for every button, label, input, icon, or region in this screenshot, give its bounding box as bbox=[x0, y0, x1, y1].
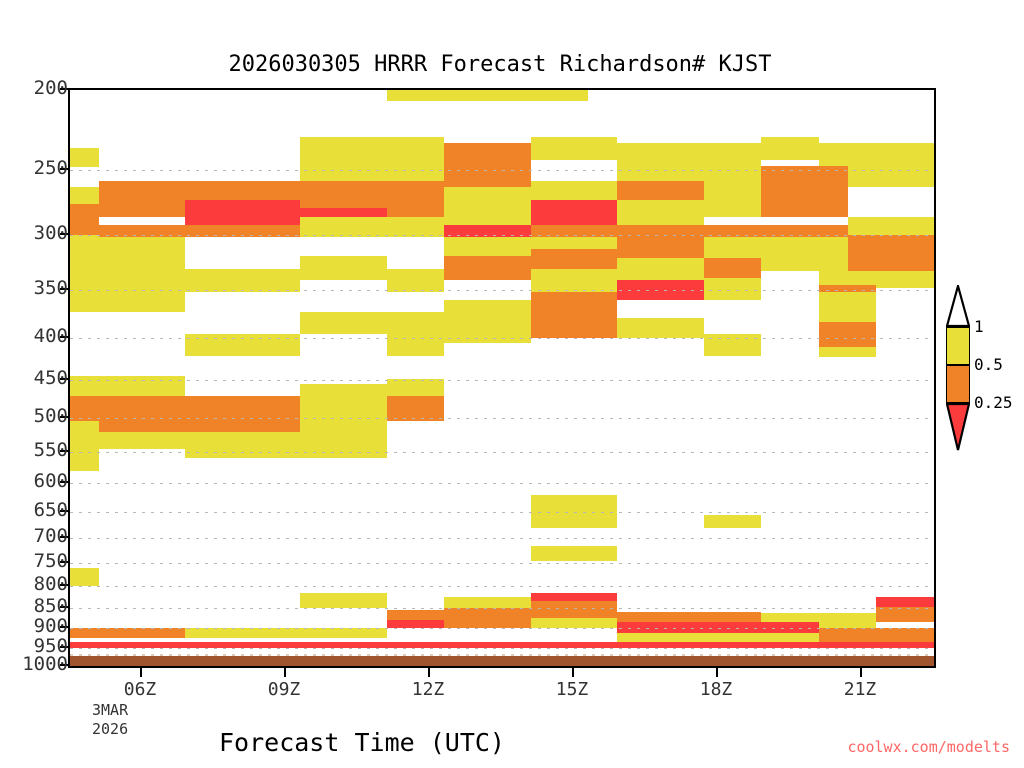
y-tick-label: 400 bbox=[6, 327, 68, 346]
credit-link[interactable]: coolwx.com/modelts bbox=[847, 738, 1010, 756]
y-tick-label: 700 bbox=[6, 527, 68, 546]
y-axis: 2002503003504004505005506006507007508008… bbox=[0, 0, 68, 768]
x-tick-label: 09Z bbox=[268, 679, 301, 700]
y-tick-label: 900 bbox=[6, 617, 68, 636]
y-tick-label: 500 bbox=[6, 407, 68, 426]
y-tick-label: 300 bbox=[6, 224, 68, 243]
x-tick-label: 06Z bbox=[124, 679, 157, 700]
x-tick-label: 18Z bbox=[700, 679, 733, 700]
x-tick-mark bbox=[572, 668, 574, 677]
terrain-band bbox=[70, 90, 934, 666]
colorbar-bottom-arrow bbox=[946, 403, 970, 445]
x-tick-mark bbox=[284, 668, 286, 677]
x-tick-mark bbox=[140, 668, 142, 677]
y-tick-label: 600 bbox=[6, 472, 68, 491]
x-tick-label: 15Z bbox=[556, 679, 589, 700]
y-tick-label: 650 bbox=[6, 501, 68, 520]
x-tick-mark bbox=[428, 668, 430, 677]
y-tick-label: 750 bbox=[6, 552, 68, 571]
y-tick-label: 850 bbox=[6, 597, 68, 616]
terrain-gridline-1000 bbox=[70, 654, 934, 656]
colorbar-band-0.5-to-1 bbox=[946, 327, 970, 365]
x-axis: 3MAR 2026 06Z09Z12Z15Z18Z21Z bbox=[0, 668, 1024, 728]
chart-root: 2026030305 HRRR Forecast Richardson# KJS… bbox=[0, 0, 1024, 768]
y-tick-label: 350 bbox=[6, 279, 68, 298]
x-tick-mark bbox=[860, 668, 862, 677]
colorbar-band-0.25-to-0.5 bbox=[946, 365, 970, 403]
colorbar-top-arrow bbox=[946, 285, 970, 327]
x-tick-label: 12Z bbox=[412, 679, 445, 700]
plot-area bbox=[68, 88, 936, 668]
page-title: 2026030305 HRRR Forecast Richardson# KJS… bbox=[0, 52, 1000, 77]
legend-colorbar: 10.50.25 bbox=[944, 285, 1024, 480]
x-tick-label: 21Z bbox=[844, 679, 877, 700]
y-tick-label: 550 bbox=[6, 441, 68, 460]
x-axis-title-text: Forecast Time (UTC) bbox=[219, 728, 505, 757]
colorbar-label: 0.25 bbox=[974, 395, 1013, 411]
y-tick-label: 200 bbox=[6, 79, 68, 98]
colorbar-label: 0.5 bbox=[974, 357, 1003, 373]
y-tick-label: 250 bbox=[6, 159, 68, 178]
x-tick-mark bbox=[716, 668, 718, 677]
y-tick-label: 450 bbox=[6, 369, 68, 388]
gridline-1000 bbox=[70, 666, 934, 667]
colorbar-label: 1 bbox=[974, 319, 984, 335]
y-tick-label: 800 bbox=[6, 575, 68, 594]
terrain-fill bbox=[70, 656, 934, 666]
date-line-1: 3MAR bbox=[92, 701, 128, 720]
